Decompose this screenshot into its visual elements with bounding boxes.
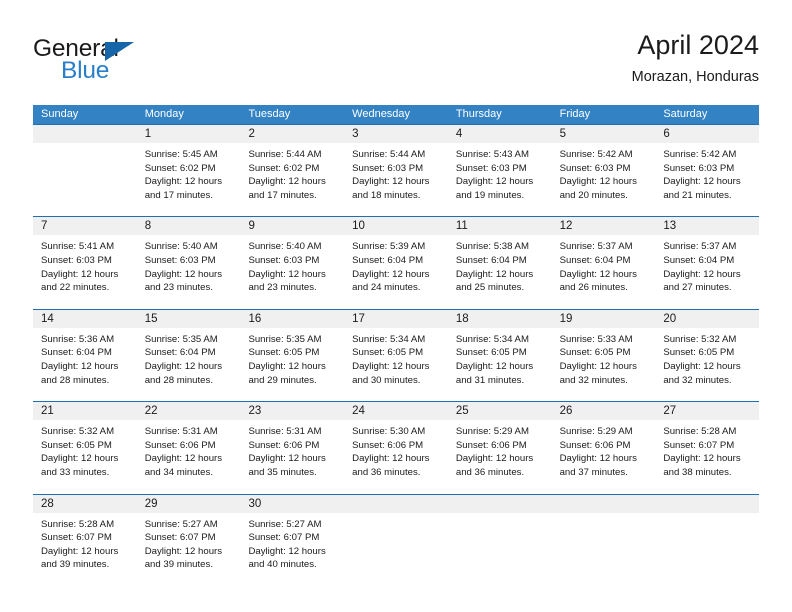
day-number: 6 [655, 125, 759, 143]
day-details: Sunrise: 5:35 AMSunset: 6:04 PMDaylight:… [137, 328, 241, 387]
weekday-header-saturday: Saturday [655, 105, 759, 124]
day-details: Sunrise: 5:44 AMSunset: 6:02 PMDaylight:… [240, 143, 344, 202]
calendar-day-cell[interactable]: 18Sunrise: 5:34 AMSunset: 6:05 PMDayligh… [448, 310, 552, 401]
calendar-day-cell-empty [344, 495, 448, 587]
daylight-text-line1: Daylight: 12 hours [663, 452, 753, 466]
day-number: 12 [552, 217, 656, 235]
daylight-text-line2: and 23 minutes. [145, 281, 235, 295]
calendar-day-cell[interactable]: 1Sunrise: 5:45 AMSunset: 6:02 PMDaylight… [137, 125, 241, 216]
daylight-text-line1: Daylight: 12 hours [41, 268, 131, 282]
sunset-text: Sunset: 6:03 PM [145, 254, 235, 268]
day-number: 25 [448, 402, 552, 420]
calendar-day-cell[interactable]: 2Sunrise: 5:44 AMSunset: 6:02 PMDaylight… [240, 125, 344, 216]
sunset-text: Sunset: 6:03 PM [248, 254, 338, 268]
sunset-text: Sunset: 6:07 PM [145, 531, 235, 545]
calendar-grid: SundayMondayTuesdayWednesdayThursdayFrid… [33, 105, 759, 587]
daylight-text-line1: Daylight: 12 hours [352, 268, 442, 282]
daylight-text-line1: Daylight: 12 hours [352, 360, 442, 374]
sunrise-text: Sunrise: 5:30 AM [352, 425, 442, 439]
daylight-text-line2: and 20 minutes. [560, 189, 650, 203]
sunrise-text: Sunrise: 5:45 AM [145, 148, 235, 162]
day-number [33, 125, 137, 143]
calendar-week-row: 21Sunrise: 5:32 AMSunset: 6:05 PMDayligh… [33, 401, 759, 493]
daylight-text-line2: and 29 minutes. [248, 374, 338, 388]
day-number: 2 [240, 125, 344, 143]
daylight-text-line2: and 24 minutes. [352, 281, 442, 295]
calendar-day-cell[interactable]: 23Sunrise: 5:31 AMSunset: 6:06 PMDayligh… [240, 402, 344, 493]
day-number: 3 [344, 125, 448, 143]
weekday-header-wednesday: Wednesday [344, 105, 448, 124]
sunrise-text: Sunrise: 5:37 AM [560, 240, 650, 254]
sunset-text: Sunset: 6:02 PM [248, 162, 338, 176]
calendar-day-cell[interactable]: 13Sunrise: 5:37 AMSunset: 6:04 PMDayligh… [655, 217, 759, 308]
calendar-day-cell[interactable]: 24Sunrise: 5:30 AMSunset: 6:06 PMDayligh… [344, 402, 448, 493]
daylight-text-line2: and 23 minutes. [248, 281, 338, 295]
day-details: Sunrise: 5:30 AMSunset: 6:06 PMDaylight:… [344, 420, 448, 479]
day-details: Sunrise: 5:31 AMSunset: 6:06 PMDaylight:… [137, 420, 241, 479]
sunrise-text: Sunrise: 5:34 AM [352, 333, 442, 347]
daylight-text-line1: Daylight: 12 hours [145, 545, 235, 559]
day-number: 1 [137, 125, 241, 143]
day-details: Sunrise: 5:28 AMSunset: 6:07 PMDaylight:… [33, 513, 137, 572]
calendar-week-row: 14Sunrise: 5:36 AMSunset: 6:04 PMDayligh… [33, 309, 759, 401]
daylight-text-line2: and 27 minutes. [663, 281, 753, 295]
sunrise-text: Sunrise: 5:34 AM [456, 333, 546, 347]
calendar-day-cell[interactable]: 26Sunrise: 5:29 AMSunset: 6:06 PMDayligh… [552, 402, 656, 493]
weekday-header-monday: Monday [137, 105, 241, 124]
calendar-weeks: 1Sunrise: 5:45 AMSunset: 6:02 PMDaylight… [33, 124, 759, 587]
calendar-day-cell[interactable]: 6Sunrise: 5:42 AMSunset: 6:03 PMDaylight… [655, 125, 759, 216]
daylight-text-line1: Daylight: 12 hours [560, 175, 650, 189]
sunrise-text: Sunrise: 5:42 AM [560, 148, 650, 162]
title-block: April 2024 Morazan, Honduras [632, 28, 759, 86]
daylight-text-line2: and 22 minutes. [41, 281, 131, 295]
daylight-text-line2: and 18 minutes. [352, 189, 442, 203]
calendar-page: General Blue April 2024 Morazan, Hondura… [0, 0, 792, 612]
sunrise-text: Sunrise: 5:41 AM [41, 240, 131, 254]
daylight-text-line1: Daylight: 12 hours [352, 452, 442, 466]
daylight-text-line1: Daylight: 12 hours [560, 268, 650, 282]
weekday-header-sunday: Sunday [33, 105, 137, 124]
day-details: Sunrise: 5:38 AMSunset: 6:04 PMDaylight:… [448, 235, 552, 294]
daylight-text-line2: and 31 minutes. [456, 374, 546, 388]
sunrise-text: Sunrise: 5:40 AM [145, 240, 235, 254]
logo-triangle-icon [105, 42, 134, 61]
day-number: 13 [655, 217, 759, 235]
calendar-day-cell[interactable]: 9Sunrise: 5:40 AMSunset: 6:03 PMDaylight… [240, 217, 344, 308]
daylight-text-line2: and 33 minutes. [41, 466, 131, 480]
sunset-text: Sunset: 6:05 PM [663, 346, 753, 360]
day-number: 29 [137, 495, 241, 513]
daylight-text-line2: and 30 minutes. [352, 374, 442, 388]
day-number: 23 [240, 402, 344, 420]
day-number: 4 [448, 125, 552, 143]
day-number: 19 [552, 310, 656, 328]
sunset-text: Sunset: 6:05 PM [560, 346, 650, 360]
daylight-text-line2: and 17 minutes. [145, 189, 235, 203]
day-details: Sunrise: 5:36 AMSunset: 6:04 PMDaylight:… [33, 328, 137, 387]
sunset-text: Sunset: 6:06 PM [145, 439, 235, 453]
daylight-text-line2: and 40 minutes. [248, 558, 338, 572]
day-number: 11 [448, 217, 552, 235]
calendar-day-cell[interactable]: 28Sunrise: 5:28 AMSunset: 6:07 PMDayligh… [33, 495, 137, 587]
calendar-day-cell[interactable]: 7Sunrise: 5:41 AMSunset: 6:03 PMDaylight… [33, 217, 137, 308]
sunset-text: Sunset: 6:03 PM [352, 162, 442, 176]
sunset-text: Sunset: 6:05 PM [248, 346, 338, 360]
day-number [448, 495, 552, 513]
sunrise-text: Sunrise: 5:28 AM [663, 425, 753, 439]
daylight-text-line1: Daylight: 12 hours [663, 268, 753, 282]
day-number: 26 [552, 402, 656, 420]
sunset-text: Sunset: 6:04 PM [560, 254, 650, 268]
day-details: Sunrise: 5:35 AMSunset: 6:05 PMDaylight:… [240, 328, 344, 387]
sunset-text: Sunset: 6:07 PM [41, 531, 131, 545]
logo-text-blue: Blue [61, 58, 109, 84]
weekday-header-thursday: Thursday [448, 105, 552, 124]
sunrise-text: Sunrise: 5:29 AM [560, 425, 650, 439]
calendar-day-cell[interactable]: 20Sunrise: 5:32 AMSunset: 6:05 PMDayligh… [655, 310, 759, 401]
daylight-text-line1: Daylight: 12 hours [145, 452, 235, 466]
sunrise-text: Sunrise: 5:32 AM [663, 333, 753, 347]
day-details: Sunrise: 5:42 AMSunset: 6:03 PMDaylight:… [655, 143, 759, 202]
day-number: 8 [137, 217, 241, 235]
sunrise-text: Sunrise: 5:28 AM [41, 518, 131, 532]
calendar-day-cell[interactable]: 16Sunrise: 5:35 AMSunset: 6:05 PMDayligh… [240, 310, 344, 401]
sunrise-text: Sunrise: 5:36 AM [41, 333, 131, 347]
weekday-header-friday: Friday [552, 105, 656, 124]
day-number: 9 [240, 217, 344, 235]
daylight-text-line2: and 32 minutes. [663, 374, 753, 388]
day-details: Sunrise: 5:29 AMSunset: 6:06 PMDaylight:… [448, 420, 552, 479]
daylight-text-line2: and 36 minutes. [456, 466, 546, 480]
day-details: Sunrise: 5:29 AMSunset: 6:06 PMDaylight:… [552, 420, 656, 479]
daylight-text-line1: Daylight: 12 hours [248, 452, 338, 466]
sunrise-text: Sunrise: 5:31 AM [248, 425, 338, 439]
sunrise-text: Sunrise: 5:32 AM [41, 425, 131, 439]
sunrise-text: Sunrise: 5:38 AM [456, 240, 546, 254]
calendar-day-cell[interactable]: 30Sunrise: 5:27 AMSunset: 6:07 PMDayligh… [240, 495, 344, 587]
daylight-text-line1: Daylight: 12 hours [145, 360, 235, 374]
day-details: Sunrise: 5:37 AMSunset: 6:04 PMDaylight:… [655, 235, 759, 294]
calendar-day-cell-empty [655, 495, 759, 587]
day-number [655, 495, 759, 513]
daylight-text-line1: Daylight: 12 hours [248, 360, 338, 374]
daylight-text-line2: and 39 minutes. [145, 558, 235, 572]
calendar-day-cell[interactable]: 14Sunrise: 5:36 AMSunset: 6:04 PMDayligh… [33, 310, 137, 401]
daylight-text-line2: and 19 minutes. [456, 189, 546, 203]
calendar-day-cell[interactable]: 8Sunrise: 5:40 AMSunset: 6:03 PMDaylight… [137, 217, 241, 308]
calendar-day-cell-empty [552, 495, 656, 587]
sunset-text: Sunset: 6:07 PM [663, 439, 753, 453]
sunset-text: Sunset: 6:04 PM [41, 346, 131, 360]
day-number [552, 495, 656, 513]
sunset-text: Sunset: 6:05 PM [352, 346, 442, 360]
sunrise-text: Sunrise: 5:35 AM [248, 333, 338, 347]
sunset-text: Sunset: 6:03 PM [41, 254, 131, 268]
day-details: Sunrise: 5:40 AMSunset: 6:03 PMDaylight:… [240, 235, 344, 294]
calendar-week-row: 7Sunrise: 5:41 AMSunset: 6:03 PMDaylight… [33, 216, 759, 308]
daylight-text-line2: and 37 minutes. [560, 466, 650, 480]
daylight-text-line2: and 39 minutes. [41, 558, 131, 572]
day-number: 24 [344, 402, 448, 420]
sunset-text: Sunset: 6:04 PM [145, 346, 235, 360]
day-details: Sunrise: 5:41 AMSunset: 6:03 PMDaylight:… [33, 235, 137, 294]
day-number: 15 [137, 310, 241, 328]
sunrise-text: Sunrise: 5:39 AM [352, 240, 442, 254]
day-number: 10 [344, 217, 448, 235]
day-number: 5 [552, 125, 656, 143]
calendar-week-row: 1Sunrise: 5:45 AMSunset: 6:02 PMDaylight… [33, 124, 759, 216]
calendar-day-cell[interactable]: 12Sunrise: 5:37 AMSunset: 6:04 PMDayligh… [552, 217, 656, 308]
daylight-text-line1: Daylight: 12 hours [456, 268, 546, 282]
day-number: 21 [33, 402, 137, 420]
sunset-text: Sunset: 6:06 PM [560, 439, 650, 453]
weekday-header-tuesday: Tuesday [240, 105, 344, 124]
day-number: 18 [448, 310, 552, 328]
calendar-day-cell[interactable]: 4Sunrise: 5:43 AMSunset: 6:03 PMDaylight… [448, 125, 552, 216]
day-number: 17 [344, 310, 448, 328]
sunset-text: Sunset: 6:07 PM [248, 531, 338, 545]
day-details: Sunrise: 5:39 AMSunset: 6:04 PMDaylight:… [344, 235, 448, 294]
daylight-text-line1: Daylight: 12 hours [560, 360, 650, 374]
sunrise-text: Sunrise: 5:40 AM [248, 240, 338, 254]
sunset-text: Sunset: 6:06 PM [352, 439, 442, 453]
sunrise-text: Sunrise: 5:44 AM [248, 148, 338, 162]
day-details: Sunrise: 5:43 AMSunset: 6:03 PMDaylight:… [448, 143, 552, 202]
daylight-text-line1: Daylight: 12 hours [248, 545, 338, 559]
day-details: Sunrise: 5:27 AMSunset: 6:07 PMDaylight:… [240, 513, 344, 572]
sunrise-text: Sunrise: 5:44 AM [352, 148, 442, 162]
calendar-week-row: 28Sunrise: 5:28 AMSunset: 6:07 PMDayligh… [33, 494, 759, 587]
daylight-text-line1: Daylight: 12 hours [352, 175, 442, 189]
daylight-text-line2: and 21 minutes. [663, 189, 753, 203]
day-details: Sunrise: 5:45 AMSunset: 6:02 PMDaylight:… [137, 143, 241, 202]
daylight-text-line1: Daylight: 12 hours [456, 452, 546, 466]
day-details: Sunrise: 5:33 AMSunset: 6:05 PMDaylight:… [552, 328, 656, 387]
daylight-text-line1: Daylight: 12 hours [41, 360, 131, 374]
day-details: Sunrise: 5:34 AMSunset: 6:05 PMDaylight:… [448, 328, 552, 387]
day-details: Sunrise: 5:27 AMSunset: 6:07 PMDaylight:… [137, 513, 241, 572]
day-number: 28 [33, 495, 137, 513]
calendar-day-cell[interactable]: 5Sunrise: 5:42 AMSunset: 6:03 PMDaylight… [552, 125, 656, 216]
day-details: Sunrise: 5:32 AMSunset: 6:05 PMDaylight:… [655, 328, 759, 387]
page-title: April 2024 [632, 28, 759, 62]
daylight-text-line1: Daylight: 12 hours [663, 175, 753, 189]
daylight-text-line2: and 28 minutes. [41, 374, 131, 388]
day-details: Sunrise: 5:31 AMSunset: 6:06 PMDaylight:… [240, 420, 344, 479]
calendar-day-cell[interactable]: 25Sunrise: 5:29 AMSunset: 6:06 PMDayligh… [448, 402, 552, 493]
sunrise-text: Sunrise: 5:33 AM [560, 333, 650, 347]
day-number: 14 [33, 310, 137, 328]
sunrise-text: Sunrise: 5:31 AM [145, 425, 235, 439]
daylight-text-line1: Daylight: 12 hours [248, 268, 338, 282]
daylight-text-line1: Daylight: 12 hours [456, 360, 546, 374]
daylight-text-line2: and 26 minutes. [560, 281, 650, 295]
day-details: Sunrise: 5:40 AMSunset: 6:03 PMDaylight:… [137, 235, 241, 294]
daylight-text-line2: and 32 minutes. [560, 374, 650, 388]
sunset-text: Sunset: 6:05 PM [456, 346, 546, 360]
sunset-text: Sunset: 6:05 PM [41, 439, 131, 453]
daylight-text-line2: and 28 minutes. [145, 374, 235, 388]
sunrise-text: Sunrise: 5:43 AM [456, 148, 546, 162]
daylight-text-line2: and 25 minutes. [456, 281, 546, 295]
page-header: General Blue April 2024 Morazan, Hondura… [33, 28, 759, 98]
sunrise-text: Sunrise: 5:29 AM [456, 425, 546, 439]
page-subtitle: Morazan, Honduras [632, 68, 759, 86]
weekday-header-row: SundayMondayTuesdayWednesdayThursdayFrid… [33, 105, 759, 124]
daylight-text-line1: Daylight: 12 hours [560, 452, 650, 466]
calendar-day-cell-empty [448, 495, 552, 587]
daylight-text-line1: Daylight: 12 hours [41, 452, 131, 466]
general-blue-logo: General Blue [33, 36, 223, 92]
day-details: Sunrise: 5:34 AMSunset: 6:05 PMDaylight:… [344, 328, 448, 387]
calendar-day-cell[interactable]: 21Sunrise: 5:32 AMSunset: 6:05 PMDayligh… [33, 402, 137, 493]
sunrise-text: Sunrise: 5:42 AM [663, 148, 753, 162]
day-number: 30 [240, 495, 344, 513]
calendar-day-cell[interactable]: 19Sunrise: 5:33 AMSunset: 6:05 PMDayligh… [552, 310, 656, 401]
day-details: Sunrise: 5:42 AMSunset: 6:03 PMDaylight:… [552, 143, 656, 202]
daylight-text-line2: and 17 minutes. [248, 189, 338, 203]
day-number: 27 [655, 402, 759, 420]
daylight-text-line1: Daylight: 12 hours [663, 360, 753, 374]
daylight-text-line1: Daylight: 12 hours [145, 268, 235, 282]
daylight-text-line2: and 38 minutes. [663, 466, 753, 480]
sunrise-text: Sunrise: 5:27 AM [145, 518, 235, 532]
daylight-text-line1: Daylight: 12 hours [145, 175, 235, 189]
calendar-day-cell[interactable]: 29Sunrise: 5:27 AMSunset: 6:07 PMDayligh… [137, 495, 241, 587]
sunrise-text: Sunrise: 5:35 AM [145, 333, 235, 347]
daylight-text-line1: Daylight: 12 hours [41, 545, 131, 559]
calendar-day-cell[interactable]: 11Sunrise: 5:38 AMSunset: 6:04 PMDayligh… [448, 217, 552, 308]
calendar-day-cell[interactable]: 27Sunrise: 5:28 AMSunset: 6:07 PMDayligh… [655, 402, 759, 493]
day-number: 20 [655, 310, 759, 328]
sunset-text: Sunset: 6:03 PM [663, 162, 753, 176]
day-number: 7 [33, 217, 137, 235]
daylight-text-line1: Daylight: 12 hours [456, 175, 546, 189]
calendar-day-cell[interactable]: 10Sunrise: 5:39 AMSunset: 6:04 PMDayligh… [344, 217, 448, 308]
sunrise-text: Sunrise: 5:27 AM [248, 518, 338, 532]
sunrise-text: Sunrise: 5:37 AM [663, 240, 753, 254]
day-number: 16 [240, 310, 344, 328]
daylight-text-line2: and 36 minutes. [352, 466, 442, 480]
sunset-text: Sunset: 6:03 PM [456, 162, 546, 176]
calendar-day-cell[interactable]: 17Sunrise: 5:34 AMSunset: 6:05 PMDayligh… [344, 310, 448, 401]
day-details: Sunrise: 5:37 AMSunset: 6:04 PMDaylight:… [552, 235, 656, 294]
daylight-text-line2: and 34 minutes. [145, 466, 235, 480]
day-details: Sunrise: 5:28 AMSunset: 6:07 PMDaylight:… [655, 420, 759, 479]
sunset-text: Sunset: 6:04 PM [352, 254, 442, 268]
calendar-day-cell[interactable]: 22Sunrise: 5:31 AMSunset: 6:06 PMDayligh… [137, 402, 241, 493]
sunset-text: Sunset: 6:03 PM [560, 162, 650, 176]
day-details: Sunrise: 5:32 AMSunset: 6:05 PMDaylight:… [33, 420, 137, 479]
day-number [344, 495, 448, 513]
day-details: Sunrise: 5:44 AMSunset: 6:03 PMDaylight:… [344, 143, 448, 202]
calendar-day-cell[interactable]: 15Sunrise: 5:35 AMSunset: 6:04 PMDayligh… [137, 310, 241, 401]
sunset-text: Sunset: 6:06 PM [248, 439, 338, 453]
sunset-text: Sunset: 6:06 PM [456, 439, 546, 453]
daylight-text-line1: Daylight: 12 hours [248, 175, 338, 189]
calendar-day-cell-empty [33, 125, 137, 216]
calendar-day-cell[interactable]: 3Sunrise: 5:44 AMSunset: 6:03 PMDaylight… [344, 125, 448, 216]
daylight-text-line2: and 35 minutes. [248, 466, 338, 480]
sunset-text: Sunset: 6:04 PM [663, 254, 753, 268]
sunset-text: Sunset: 6:04 PM [456, 254, 546, 268]
sunset-text: Sunset: 6:02 PM [145, 162, 235, 176]
day-number: 22 [137, 402, 241, 420]
